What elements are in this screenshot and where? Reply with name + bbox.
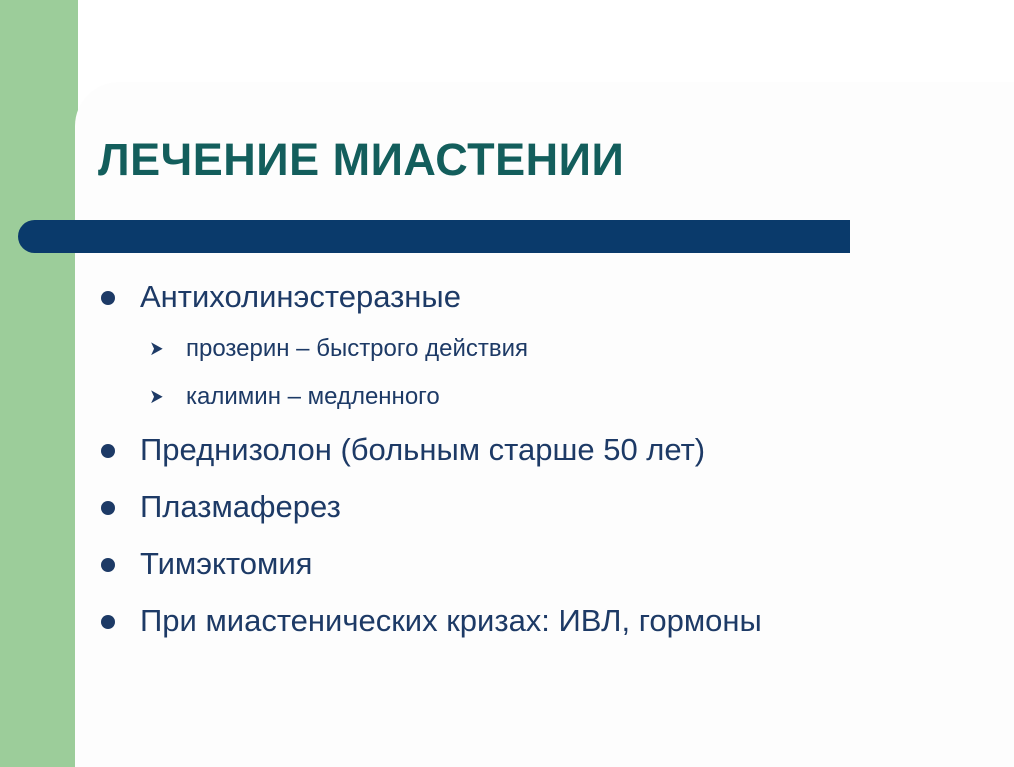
- list-item: прозерин – быстрого действия: [96, 325, 996, 373]
- list-item: калимин – медленного: [96, 373, 996, 421]
- list-item-label: Плазмаферез: [140, 489, 341, 524]
- list-item: Тимэктомия: [96, 535, 996, 592]
- list-item-label: При миастенических кризах: ИВЛ, гормоны: [140, 603, 762, 638]
- disc-bullet-icon: [101, 268, 117, 325]
- disc-bullet-icon: [101, 535, 117, 592]
- title-divider-bar: [18, 220, 850, 253]
- list-item: Преднизолон (больным старше 50 лет): [96, 421, 996, 478]
- disc-bullet-icon: [101, 478, 117, 535]
- treatment-bullet-list: Антихолинэстеразные прозерин – быстрого …: [96, 268, 996, 649]
- list-item-label: Преднизолон (больным старше 50 лет): [140, 432, 705, 467]
- list-item-label: Тимэктомия: [140, 546, 312, 581]
- list-item: Антихолинэстеразные: [96, 268, 996, 325]
- disc-bullet-icon: [101, 421, 117, 478]
- list-item: Плазмаферез: [96, 478, 996, 535]
- presentation-slide: ЛЕЧЕНИЕ МИАСТЕНИИ Антихолинэстеразные пр…: [0, 0, 1014, 767]
- list-item: При миастенических кризах: ИВЛ, гормоны: [96, 592, 996, 649]
- disc-bullet-icon: [101, 592, 117, 649]
- page-title: ЛЕЧЕНИЕ МИАСТЕНИИ: [98, 133, 918, 187]
- arrow-bullet-icon: [148, 373, 165, 421]
- arrow-bullet-icon: [148, 325, 165, 373]
- left-green-accent-panel: [0, 0, 78, 767]
- list-item-label: калимин – медленного: [186, 383, 440, 410]
- list-item-label: прозерин – быстрого действия: [186, 335, 528, 362]
- list-item-label: Антихолинэстеразные: [140, 279, 461, 314]
